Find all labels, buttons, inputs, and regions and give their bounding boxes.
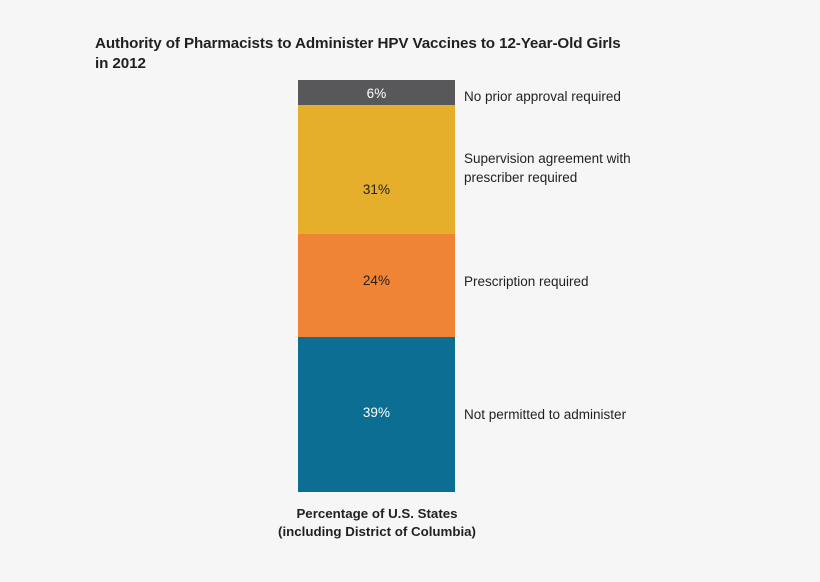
plot-area: 6% 31% 24% 39%	[298, 80, 455, 492]
segment-value-label: 24%	[298, 274, 455, 288]
axis-caption: Percentage of U.S. States (including Dis…	[236, 505, 518, 541]
category-label-supervision-agreement: Supervision agreement with prescriber re…	[464, 149, 764, 187]
category-label-list: No prior approval required Supervision a…	[464, 80, 764, 492]
bar-segment-no-prior-approval[interactable]: 6%	[298, 80, 455, 105]
segment-value-label: 39%	[298, 406, 455, 420]
category-label-no-prior-approval: No prior approval required	[464, 87, 764, 106]
bar-segment-not-permitted[interactable]: 39%	[298, 337, 455, 492]
bar-segment-supervision-agreement[interactable]: 31%	[298, 105, 455, 234]
segment-value-label: 31%	[298, 183, 455, 197]
chart-figure: Authority of Pharmacists to Administer H…	[0, 0, 820, 582]
category-label-not-permitted: Not permitted to administer	[464, 405, 764, 424]
segment-value-label: 6%	[298, 87, 455, 101]
bar-segment-prescription-required[interactable]: 24%	[298, 234, 455, 337]
stacked-bar: 6% 31% 24% 39%	[298, 80, 455, 492]
chart-title: Authority of Pharmacists to Administer H…	[95, 34, 745, 74]
category-label-prescription-required: Prescription required	[464, 272, 764, 291]
